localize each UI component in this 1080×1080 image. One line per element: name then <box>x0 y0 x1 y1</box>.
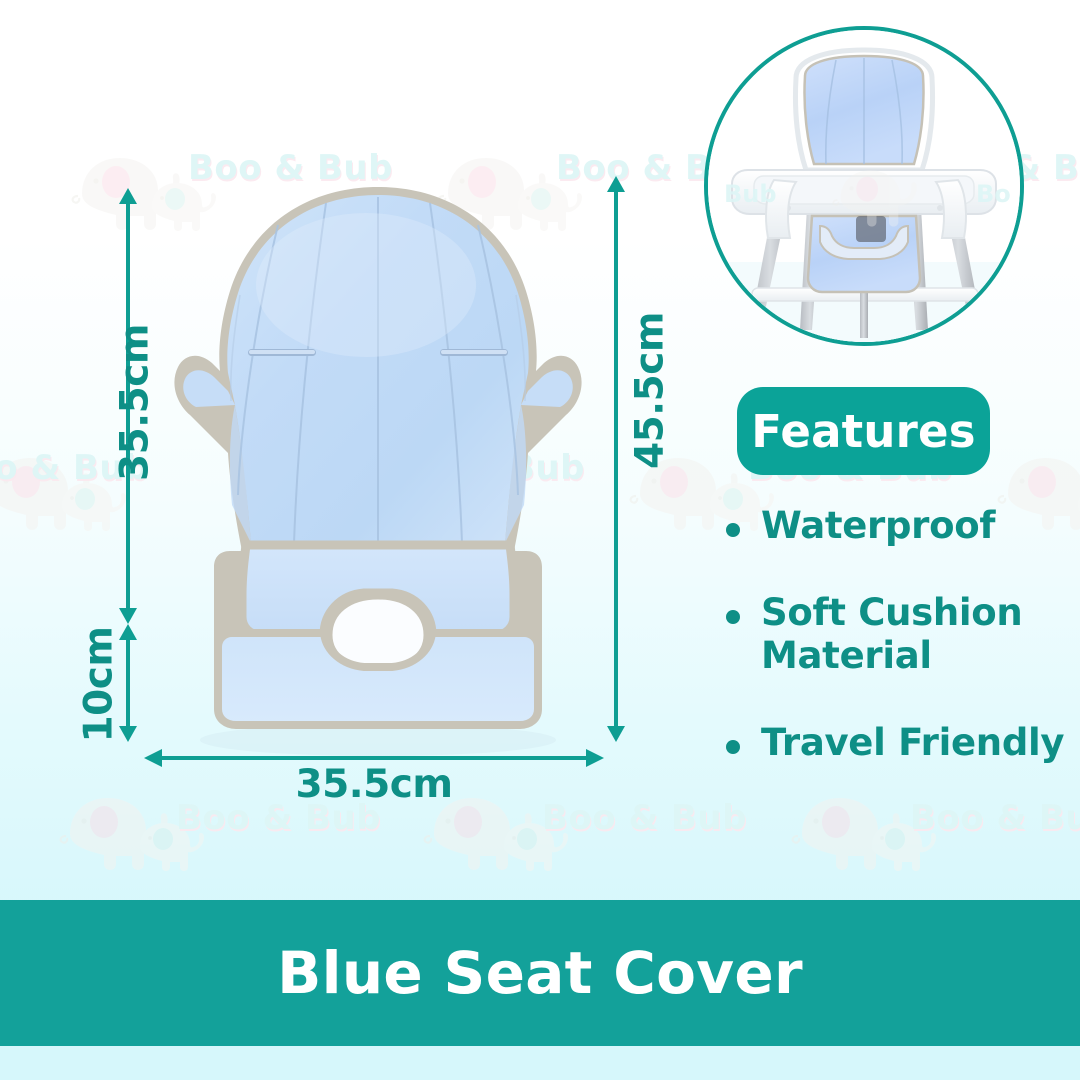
svg-text:Bub: Bub <box>724 180 777 208</box>
features-heading-badge: Features <box>737 387 990 475</box>
feature-item: Soft Cushion Material <box>726 592 1076 678</box>
bullet-icon <box>726 740 740 754</box>
seat-cover-graphic <box>128 165 628 765</box>
features-list: Waterproof Soft Cushion Material Travel … <box>726 505 1076 809</box>
feature-label: Travel Friendly <box>761 722 1064 765</box>
dimension-label-width: 35.5cm <box>142 762 606 807</box>
dimension-label-apron-height: 10cm <box>77 625 122 745</box>
high-chair-graphic: Bub Bo <box>708 30 1020 342</box>
infographic-canvas: Boo & Bub Boo & Bub Boo & Bub Boo & Bub … <box>0 0 1080 1080</box>
feature-item: Waterproof <box>726 505 1076 548</box>
dimension-label-total-height: 45.5cm <box>628 301 673 481</box>
features-heading-text: Features <box>751 405 975 458</box>
bullet-icon <box>726 523 740 537</box>
banner-footer-strip <box>0 1046 1080 1080</box>
product-title-banner: Blue Seat Cover <box>0 900 1080 1046</box>
feature-item: Travel Friendly <box>726 722 1076 765</box>
dimension-label-back-height: 35.5cm <box>113 313 158 493</box>
feature-label: Waterproof <box>761 505 995 548</box>
svg-text:Bo: Bo <box>976 180 1011 208</box>
product-title-text: Blue Seat Cover <box>277 939 803 1007</box>
inset-photo-circle: Bub Bo <box>704 26 1024 346</box>
feature-label: Soft Cushion Material <box>761 592 1031 678</box>
bullet-icon <box>726 610 740 624</box>
product-illustration <box>128 165 628 765</box>
